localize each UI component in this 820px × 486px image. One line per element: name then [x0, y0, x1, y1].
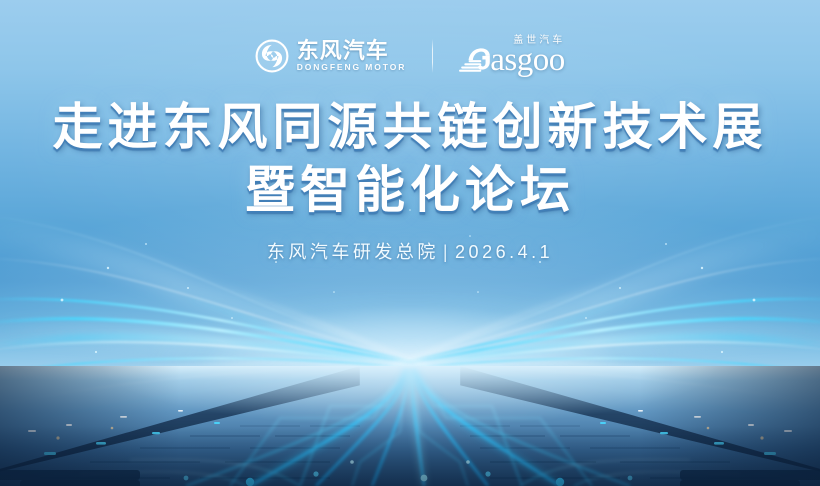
dongfeng-name-cn: 东风汽车 [297, 40, 389, 62]
event-key-visual: 东风汽车 DONGFENG MOTOR 盖世汽车 asgoo 走进东风同源共链创… [0, 0, 820, 486]
circuit-road-floor [0, 366, 820, 486]
dongfeng-wordmark: 东风汽车 DONGFENG MOTOR [297, 40, 407, 72]
subtitle-date: 2026.4.1 [455, 242, 553, 262]
gasgoo-mark-icon [459, 44, 493, 74]
gasgoo-wordmark: 盖世汽车 asgoo [497, 36, 565, 75]
logo-bar: 东风汽车 DONGFENG MOTOR 盖世汽车 asgoo [0, 36, 820, 75]
logo-gasgoo[interactable]: 盖世汽车 asgoo [433, 36, 565, 75]
title-line-2: 暨智能化论坛 [0, 161, 820, 220]
title-block: 走进东风同源共链创新技术展 暨智能化论坛 [0, 98, 820, 220]
gasgoo-wordmark-text: asgoo [490, 45, 565, 75]
title-line-1: 走进东风同源共链创新技术展 [0, 98, 820, 157]
subtitle-organizer: 东风汽车研发总院 [267, 242, 439, 262]
dongfeng-emblem-icon [255, 39, 289, 73]
logo-dongfeng[interactable]: 东风汽车 DONGFENG MOTOR [255, 39, 433, 73]
floor-vignette [0, 366, 820, 486]
subtitle-block: 东风汽车研发总院|2026.4.1 [0, 238, 820, 264]
dongfeng-name-en: DONGFENG MOTOR [297, 63, 407, 72]
subtitle-separator: | [439, 242, 455, 262]
